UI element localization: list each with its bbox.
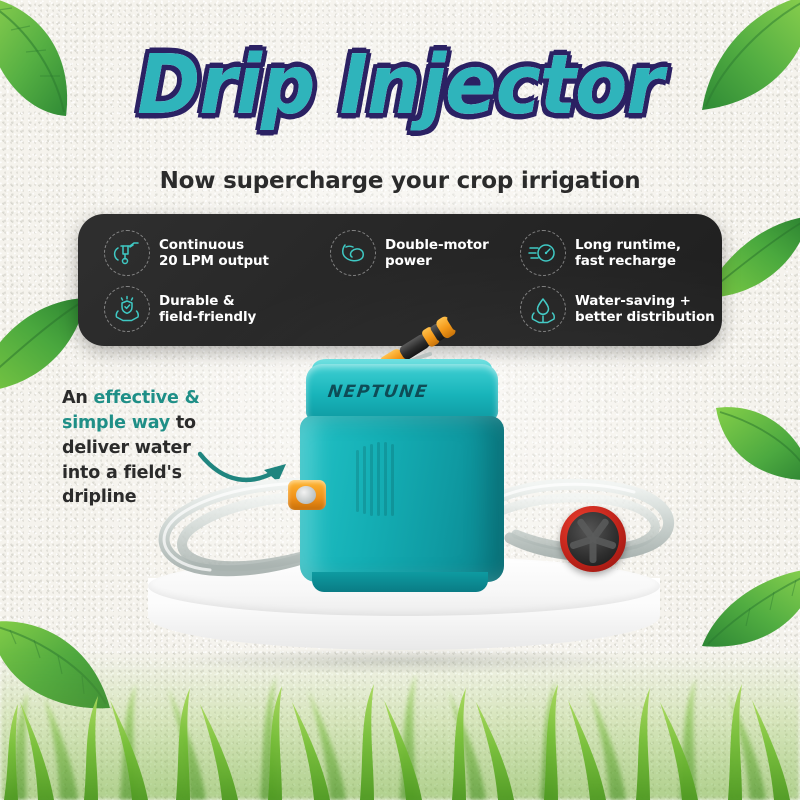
grass-foreground [0, 600, 800, 800]
feature-label: Double-motor power [385, 237, 489, 270]
feature-item-continuous-output: Continuous 20 LPM output [104, 230, 304, 276]
feature-label: Continuous 20 LPM output [159, 237, 269, 270]
product-body [300, 416, 504, 582]
product-inlet-hose [296, 486, 316, 504]
product-unit: NEPTUNE [298, 364, 504, 594]
vent-rib [363, 446, 366, 514]
page-subtitle: Now supercharge your crop irrigation [0, 168, 800, 194]
feature-item-double-motor: Double-motor power [330, 230, 520, 276]
vent-rib [356, 450, 359, 512]
product-base [312, 572, 488, 592]
title-container: Drip Injector [0, 40, 800, 129]
page-title: Drip Injector [137, 36, 663, 132]
vent-rib [384, 442, 387, 516]
feature-label: Long runtime, fast recharge [575, 237, 681, 270]
speedometer-icon [520, 230, 566, 276]
muscle-arm-icon [330, 230, 376, 276]
vent-rib [370, 444, 373, 516]
spray-gun-icon [104, 230, 150, 276]
filter-disc-inner [567, 512, 619, 566]
product-brand-label: NEPTUNE [327, 382, 430, 402]
filter-disc [560, 506, 626, 572]
vent-rib [377, 442, 380, 516]
vent-rib [391, 444, 394, 516]
grass-blades [0, 600, 800, 800]
feature-item-long-runtime: Long runtime, fast recharge [520, 230, 720, 276]
